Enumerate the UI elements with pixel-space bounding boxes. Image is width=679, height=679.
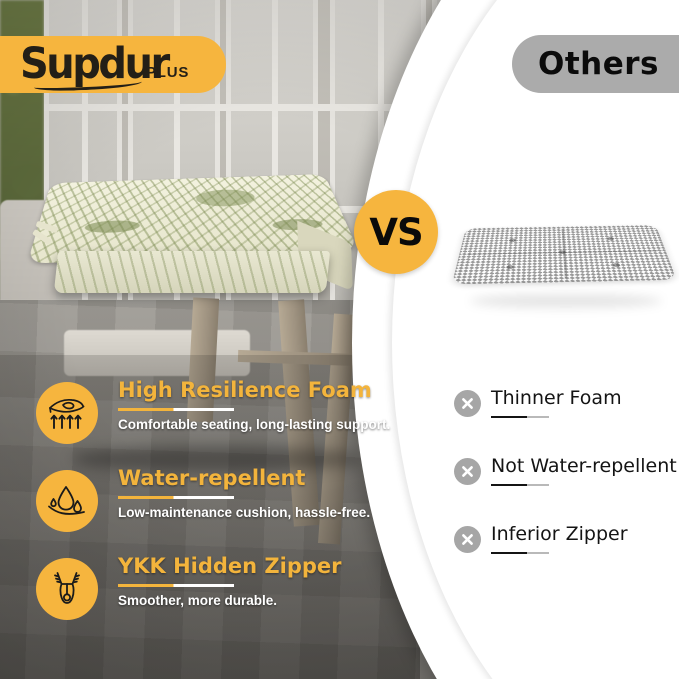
others-label-text: Others [538,46,659,82]
feature-item: High Resilience Foam Comfortable seating… [36,378,376,466]
feature-text-block: Water-repellent Low-maintenance cushion,… [118,466,376,520]
comparison-infographic: Supdur PLUS Others VS [0,0,679,679]
product-cushion-ours [42,158,342,308]
product-cushion-theirs [460,190,674,320]
drawback-title: Not Water-repellent [491,452,677,481]
feature-title: YKK Hidden Zipper [118,554,376,578]
feature-text-block: High Resilience Foam Comfortable seating… [118,378,376,432]
cushion-front-face [54,251,330,293]
competitor-cushion-body [452,225,677,284]
drawback-divider [491,416,549,419]
others-label-pill: Others [512,35,679,93]
feature-text-block: YKK Hidden Zipper Smoother, more durable… [118,554,376,608]
drawback-text-block: Inferior Zipper [491,520,628,554]
feature-subtitle: Smoother, more durable. [118,593,376,608]
x-circle-icon [454,526,481,553]
brand-logo-banner: Supdur PLUS [0,36,226,93]
drawback-item: Inferior Zipper [454,524,679,592]
brand-wordmark: Supdur PLUS [20,43,144,87]
foam-resilience-icon [36,382,98,444]
drawback-title: Inferior Zipper [491,520,628,549]
versus-label-text: VS [369,211,422,254]
drawback-item: Thinner Foam [454,388,679,456]
feature-title: Water-repellent [118,466,376,490]
drawback-divider [491,552,549,555]
feature-title: High Resilience Foam [118,378,376,402]
brand-plus-text: PLUS [146,64,189,81]
zipper-icon [36,558,98,620]
x-circle-icon [454,458,481,485]
drawback-list-theirs: Thinner Foam Not Water-repellent [454,388,679,592]
feature-subtitle: Comfortable seating, long-lasting suppor… [118,417,376,432]
drawback-divider [491,484,549,487]
drawback-text-block: Thinner Foam [491,384,622,418]
water-droplet-icon [36,470,98,532]
feature-list-ours: High Resilience Foam Comfortable seating… [36,378,376,642]
drawback-item: Not Water-repellent [454,456,679,524]
feature-divider [118,408,234,411]
versus-badge: VS [354,190,438,274]
feature-item: Water-repellent Low-maintenance cushion,… [36,466,376,554]
feature-divider [118,496,234,499]
x-circle-icon [454,390,481,417]
feature-divider [118,584,234,587]
drawback-title: Thinner Foam [491,384,622,413]
competitor-cushion-shadow [470,294,662,308]
drawback-text-block: Not Water-repellent [491,452,677,486]
feature-item: YKK Hidden Zipper Smoother, more durable… [36,554,376,642]
feature-subtitle: Low-maintenance cushion, hassle-free. [118,505,376,520]
